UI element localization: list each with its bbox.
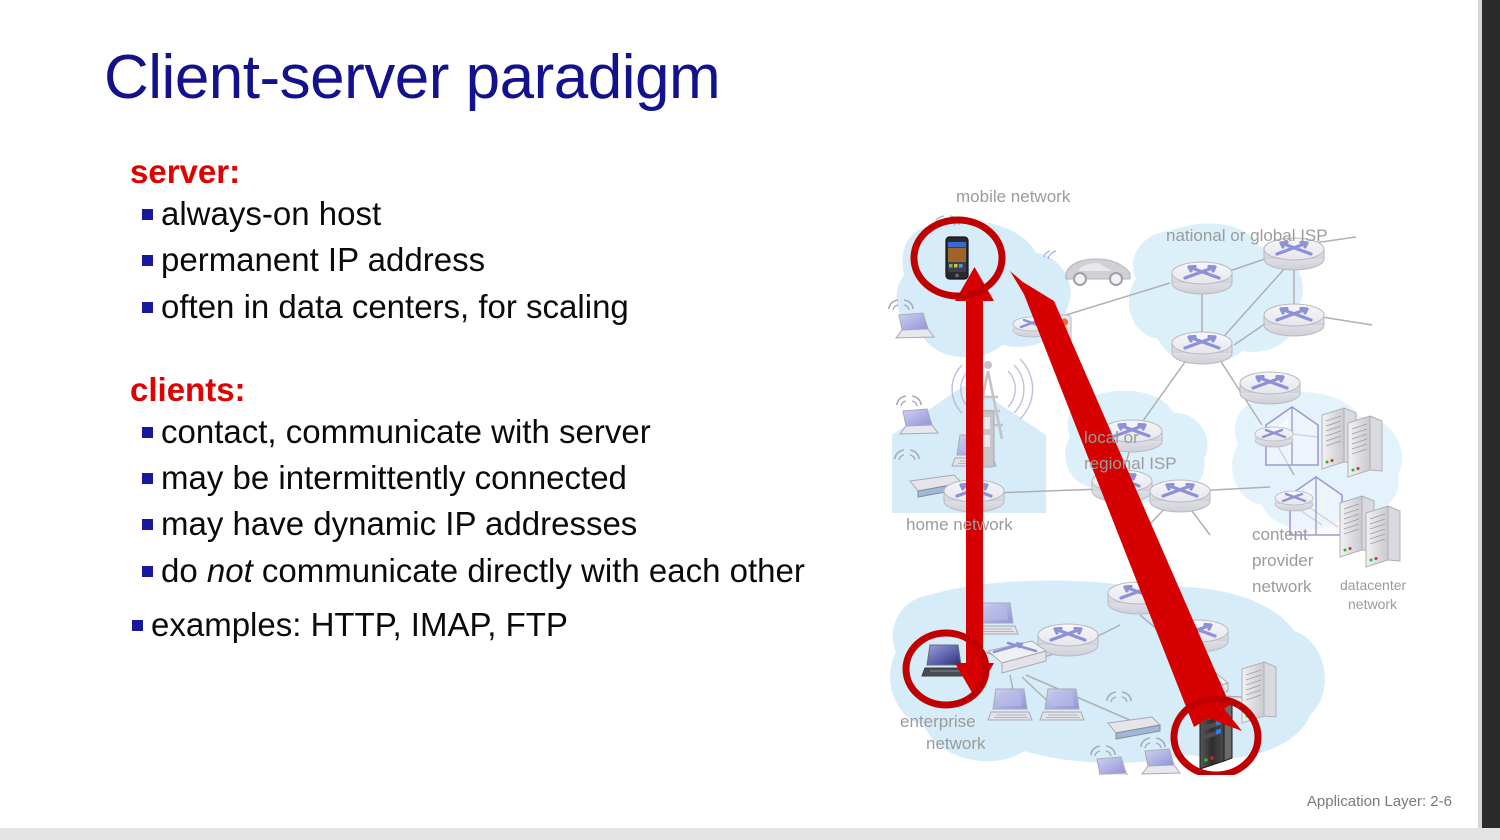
label-national-isp: national or global ISP — [1166, 226, 1328, 245]
label-local-isp-line1: local or — [1084, 428, 1139, 447]
bullet-square-icon — [142, 209, 153, 220]
list-item: always-on host — [130, 194, 830, 234]
section-heading-server: server: — [130, 155, 830, 188]
list-item: examples: HTTP, IMAP, FTP — [130, 605, 830, 645]
list-item-emphasis: not — [207, 552, 253, 589]
list-item-label: contact, communicate with server — [161, 413, 651, 450]
bullet-list-server: always-on host permanent IP address ofte… — [130, 194, 830, 327]
window-right-strip — [1482, 0, 1500, 828]
bullet-square-icon — [142, 473, 153, 484]
label-datacenter-line2: network — [1348, 596, 1398, 612]
label-content-line3: network — [1252, 577, 1312, 596]
list-item: may be intermittently connected — [130, 458, 830, 498]
list-item-label: always-on host — [161, 195, 381, 232]
bullet-square-icon — [142, 302, 153, 313]
list-item-label: examples: HTTP, IMAP, FTP — [151, 606, 568, 643]
bullet-list-clients: contact, communicate with server may be … — [130, 412, 830, 591]
router-icon — [1172, 332, 1232, 364]
label-local-isp-line2: regional ISP — [1084, 454, 1177, 473]
bullet-list-examples: examples: HTTP, IMAP, FTP — [130, 605, 830, 645]
router-icon — [1255, 427, 1293, 447]
page-title: Client-server paradigm — [104, 42, 720, 113]
bullet-square-icon — [142, 519, 153, 530]
slide-footer: Application Layer: 2-6 — [1307, 793, 1452, 810]
bullet-square-icon — [142, 427, 153, 438]
label-datacenter-line1: datacenter — [1340, 577, 1406, 593]
list-item-label: permanent IP address — [161, 241, 485, 278]
list-item: contact, communicate with server — [130, 412, 830, 452]
window-bottom-strip — [0, 828, 1500, 840]
label-content-line2: provider — [1252, 551, 1314, 570]
server-rack-icon — [1348, 416, 1382, 477]
list-item-text-post: communicate directly with each other — [253, 552, 805, 589]
label-enterprise-line1: enterprise — [900, 712, 976, 731]
bullet-square-icon — [142, 255, 153, 266]
label-enterprise-line2: network — [926, 734, 986, 753]
slide-body: server: always-on host permanent IP addr… — [130, 155, 830, 651]
label-home-network: home network — [906, 515, 1013, 534]
router-icon — [1172, 262, 1232, 294]
bullet-square-icon — [132, 620, 143, 631]
network-topology-diagram: mobile network national or global ISP lo… — [870, 175, 1470, 775]
list-item: may have dynamic IP addresses — [130, 504, 830, 544]
router-icon — [1240, 372, 1300, 404]
list-item-label: do not communicate directly with each ot… — [161, 552, 805, 589]
label-mobile-network: mobile network — [956, 187, 1071, 206]
list-item: often in data centers, for scaling — [130, 287, 830, 327]
list-item-label: may have dynamic IP addresses — [161, 505, 637, 542]
bullet-square-icon — [142, 566, 153, 577]
smartphone-icon — [946, 237, 968, 279]
section-heading-clients: clients: — [130, 373, 830, 406]
router-icon — [1264, 304, 1324, 336]
list-item: do not communicate directly with each ot… — [130, 551, 830, 591]
label-content-line1: content — [1252, 525, 1308, 544]
list-item-label: often in data centers, for scaling — [161, 288, 629, 325]
router-icon — [1150, 480, 1210, 512]
list-item-text-pre: do — [161, 552, 207, 589]
slide-canvas: Client-server paradigm server: always-on… — [0, 0, 1478, 828]
list-item-label: may be intermittently connected — [161, 459, 627, 496]
list-item: permanent IP address — [130, 240, 830, 280]
wifi-icon — [897, 396, 921, 406]
router-icon — [1275, 491, 1313, 511]
server-rack-icon — [1366, 506, 1400, 567]
